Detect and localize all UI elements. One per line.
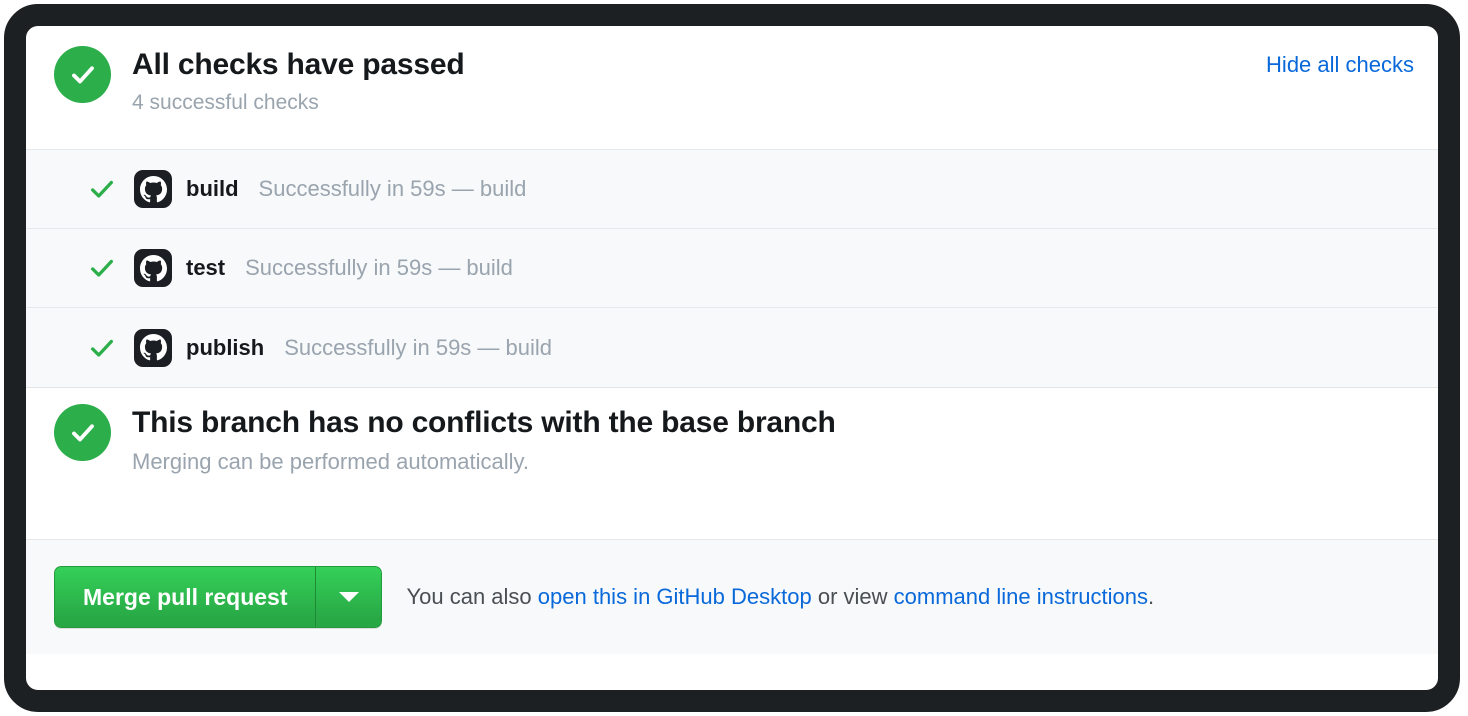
- command-line-instructions-link[interactable]: command line instructions: [894, 584, 1148, 609]
- conflicts-title: This branch has no conflicts with the ba…: [132, 404, 836, 442]
- check-circle-icon: [54, 404, 111, 461]
- merge-options-dropdown-button[interactable]: [315, 566, 382, 628]
- footer-note-suffix: .: [1148, 584, 1154, 609]
- github-icon: [134, 329, 172, 367]
- merge-pull-request-button[interactable]: Merge pull request: [54, 566, 315, 628]
- github-icon: [134, 170, 172, 208]
- footer-note-middle: or view: [812, 584, 894, 609]
- merge-box-card: All checks have passed 4 successful chec…: [26, 26, 1438, 690]
- page-title: All checks have passed: [132, 46, 464, 84]
- conflicts-subtitle: Merging can be performed automatically.: [132, 446, 836, 478]
- checks-list: build Successfully in 59s — build test S…: [26, 150, 1438, 388]
- check-row[interactable]: test Successfully in 59s — build: [26, 229, 1438, 308]
- check-description: Successfully in 59s — build: [284, 335, 552, 361]
- checks-header: All checks have passed 4 successful chec…: [26, 26, 1438, 150]
- check-icon: [74, 334, 130, 362]
- check-row[interactable]: publish Successfully in 59s — build: [26, 308, 1438, 387]
- merge-conflicts-section: This branch has no conflicts with the ba…: [26, 388, 1438, 540]
- check-icon: [74, 175, 130, 203]
- hide-all-checks-link[interactable]: Hide all checks: [1266, 52, 1414, 78]
- open-in-github-desktop-link[interactable]: open this in GitHub Desktop: [538, 584, 812, 609]
- github-icon: [134, 249, 172, 287]
- footer-note-prefix: You can also: [406, 584, 537, 609]
- conflicts-text: This branch has no conflicts with the ba…: [132, 404, 836, 478]
- checks-summary: 4 successful checks: [132, 88, 464, 118]
- chevron-down-icon: [339, 592, 359, 602]
- check-description: Successfully in 59s — build: [259, 176, 527, 202]
- check-name: publish: [186, 335, 264, 361]
- merge-button-group: Merge pull request: [54, 566, 382, 628]
- merge-footer: Merge pull request You can also open thi…: [26, 540, 1438, 654]
- device-frame: All checks have passed 4 successful chec…: [4, 4, 1460, 712]
- footer-note: You can also open this in GitHub Desktop…: [406, 584, 1154, 610]
- checks-header-text: All checks have passed 4 successful chec…: [132, 46, 464, 118]
- check-row[interactable]: build Successfully in 59s — build: [26, 150, 1438, 229]
- check-icon: [74, 254, 130, 282]
- check-description: Successfully in 59s — build: [245, 255, 513, 281]
- check-name: build: [186, 176, 239, 202]
- check-circle-icon: [54, 46, 111, 103]
- check-name: test: [186, 255, 225, 281]
